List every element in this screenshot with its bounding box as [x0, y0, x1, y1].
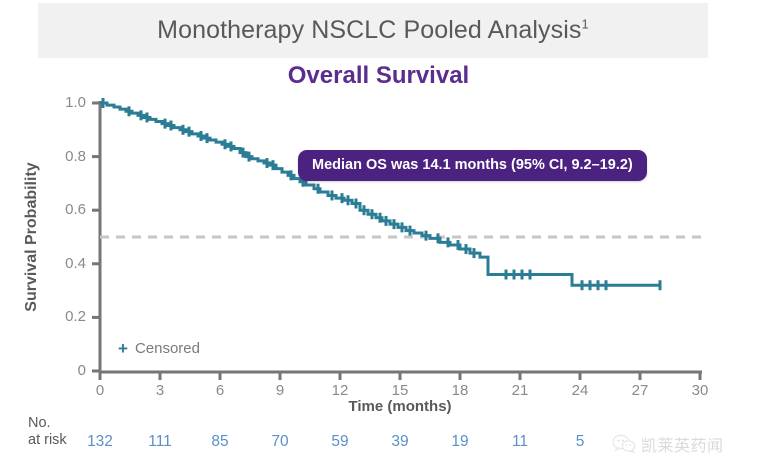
y-axis-tick-label: 0 [34, 362, 86, 379]
chart-axes [92, 101, 702, 380]
risk-table-value: 39 [378, 433, 422, 451]
y-axis-tick-label: 1.0 [34, 94, 86, 111]
x-axis-tick-label: 18 [438, 382, 482, 399]
risk-table-value: 70 [258, 433, 302, 451]
x-axis-tick-label: 9 [258, 382, 302, 399]
x-axis-tick-label: 12 [318, 382, 362, 399]
x-axis-tick-label: 15 [378, 382, 422, 399]
x-axis-tick-label: 0 [78, 382, 122, 399]
censored-marks [103, 98, 660, 290]
x-axis-tick-label: 24 [558, 382, 602, 399]
legend-censored-label: Censored [135, 340, 200, 357]
x-axis-tick-label: 27 [618, 382, 662, 399]
risk-table-label-line2: at risk [28, 432, 67, 449]
risk-table-value: 5 [558, 433, 602, 451]
legend-censored: + Censored [118, 340, 200, 357]
x-axis-tick-label: 21 [498, 382, 542, 399]
risk-table-value: 132 [78, 433, 122, 451]
risk-table-value: 59 [318, 433, 362, 451]
censored-plus-icon: + [118, 340, 128, 357]
watermark: 凯莱英药闻 [612, 432, 724, 456]
y-axis-tick-label: 0.2 [34, 308, 86, 325]
wechat-bubble-icon [612, 434, 636, 454]
risk-table-value: 85 [198, 433, 242, 451]
x-axis-tick-label: 6 [198, 382, 242, 399]
x-axis-title: Time (months) [100, 398, 700, 415]
risk-table-value: 111 [138, 433, 182, 451]
y-axis-tick-label: 0.4 [34, 255, 86, 272]
risk-table-label-line1: No. [28, 415, 67, 432]
risk-table-label: No. at risk [28, 415, 67, 449]
survival-chart: Survival Probability Time (months) 03691… [0, 0, 757, 474]
y-axis-title: Survival Probability [23, 142, 41, 332]
y-axis-tick-label: 0.6 [34, 201, 86, 218]
watermark-text: 凯莱英药闻 [641, 432, 724, 456]
y-axis-tick-label: 0.8 [34, 148, 86, 165]
median-os-callout: Median OS was 14.1 months (95% CI, 9.2–1… [298, 150, 647, 181]
x-axis-tick-label: 3 [138, 382, 182, 399]
x-axis-tick-label: 30 [678, 382, 722, 399]
risk-table-value: 11 [498, 433, 542, 451]
risk-table-value: 19 [438, 433, 482, 451]
